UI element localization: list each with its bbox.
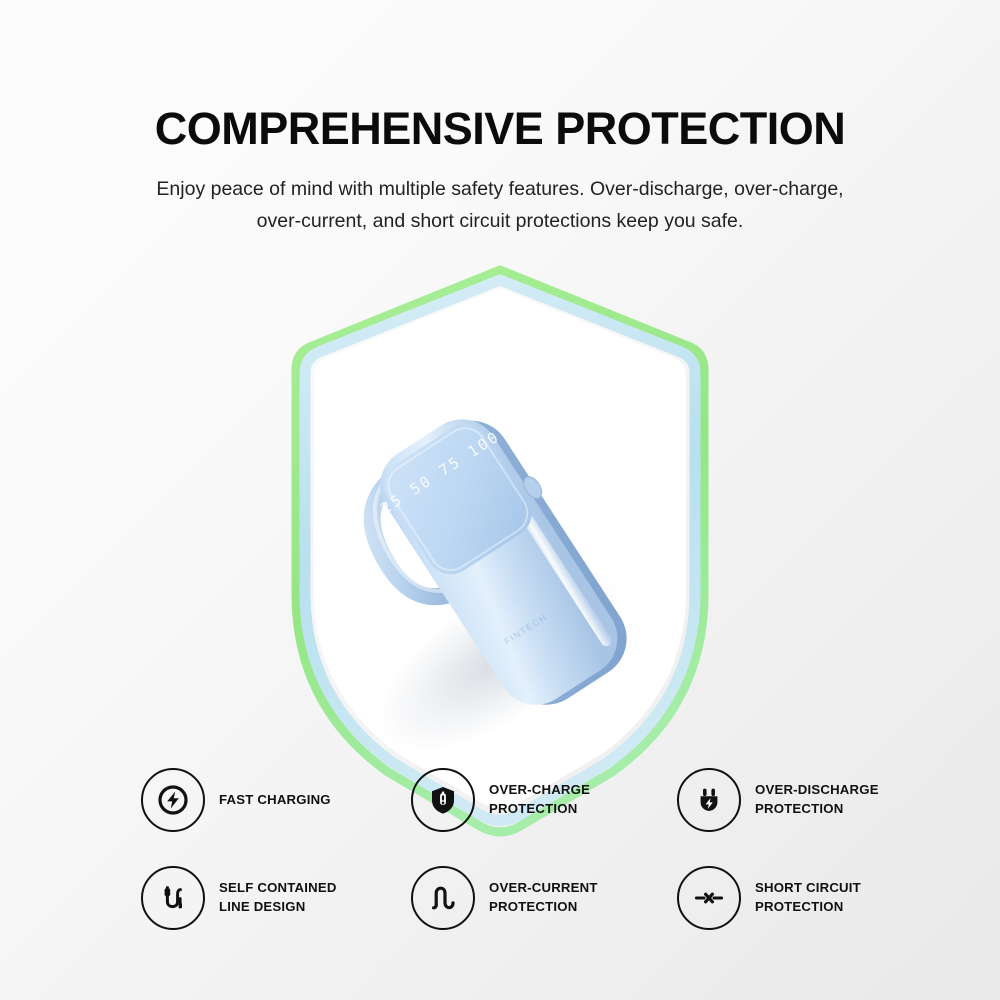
feature-label: OVER-CHARGE PROTECTION	[489, 781, 590, 818]
feature-label: SHORT CIRCUIT PROTECTION	[755, 879, 861, 916]
page-title: COMPREHENSIVE PROTECTION	[0, 105, 1000, 152]
page-subtitle: Enjoy peace of mind with multiple safety…	[155, 174, 845, 237]
feature-over-current: OVER-CURRENT PROTECTION	[411, 866, 598, 930]
marketing-banner: COMPREHENSIVE PROTECTION Enjoy peace of …	[0, 0, 1000, 1000]
feature-self-contained-line: SELF CONTAINED LINE DESIGN	[141, 866, 337, 930]
feature-label: OVER-DISCHARGE PROTECTION	[755, 781, 879, 818]
feature-over-discharge: OVER-DISCHARGE PROTECTION	[677, 768, 879, 832]
short-circuit-icon	[677, 866, 741, 930]
feature-label: FAST CHARGING	[219, 791, 331, 810]
feature-fast-charging: FAST CHARGING	[141, 768, 331, 832]
cable-loop-icon	[141, 866, 205, 930]
feature-list: FAST CHARGING OVER-CHARGE PROTECTION	[0, 762, 1000, 952]
shield-svg	[272, 262, 728, 822]
shield-alert-icon	[411, 768, 475, 832]
bolt-circle-icon	[141, 768, 205, 832]
header: COMPREHENSIVE PROTECTION Enjoy peace of …	[0, 105, 1000, 237]
plug-bolt-icon	[677, 768, 741, 832]
feature-short-circuit: SHORT CIRCUIT PROTECTION	[677, 866, 861, 930]
feature-label: SELF CONTAINED LINE DESIGN	[219, 879, 337, 916]
shield-graphic	[272, 262, 728, 822]
waveform-icon	[411, 866, 475, 930]
feature-label: OVER-CURRENT PROTECTION	[489, 879, 598, 916]
feature-over-charge: OVER-CHARGE PROTECTION	[411, 768, 590, 832]
